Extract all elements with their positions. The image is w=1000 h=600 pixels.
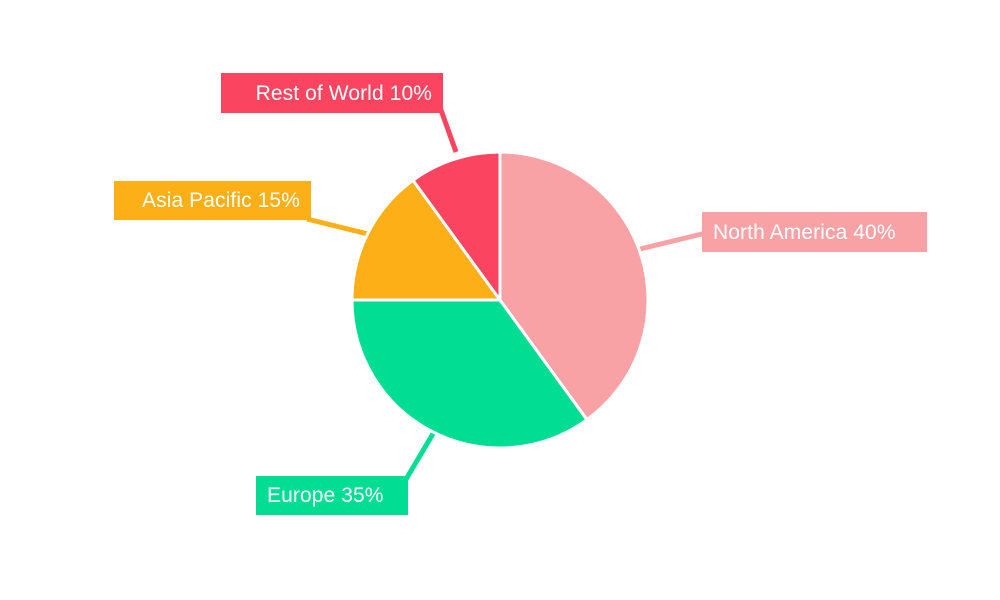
pie-label-europe[interactable]: Europe 35% (256, 476, 408, 515)
pie-slices (352, 152, 648, 448)
pie-label-north-america-text: North America 40% (713, 222, 896, 243)
pie-label-asia-pacific[interactable]: Asia Pacific 15% (114, 181, 311, 220)
leader-line-asia-pacific (307, 219, 372, 235)
pie-label-north-america[interactable]: North America 40% (702, 212, 927, 252)
pie-label-rest-of-world[interactable]: Rest of World 10% (221, 73, 443, 113)
pie-label-asia-pacific-text: Asia Pacific 15% (142, 190, 300, 211)
leader-line-rest-of-world (441, 110, 456, 152)
pie-label-rest-of-world-text: Rest of World 10% (256, 83, 432, 104)
leader-line-north-america (636, 233, 706, 250)
pie-label-europe-text: Europe 35% (267, 485, 384, 506)
pie-chart-svg (0, 0, 1000, 600)
pie-chart-canvas: North America 40% Europe 35% Asia Pacifi… (0, 0, 1000, 600)
leader-line-europe (405, 432, 434, 481)
